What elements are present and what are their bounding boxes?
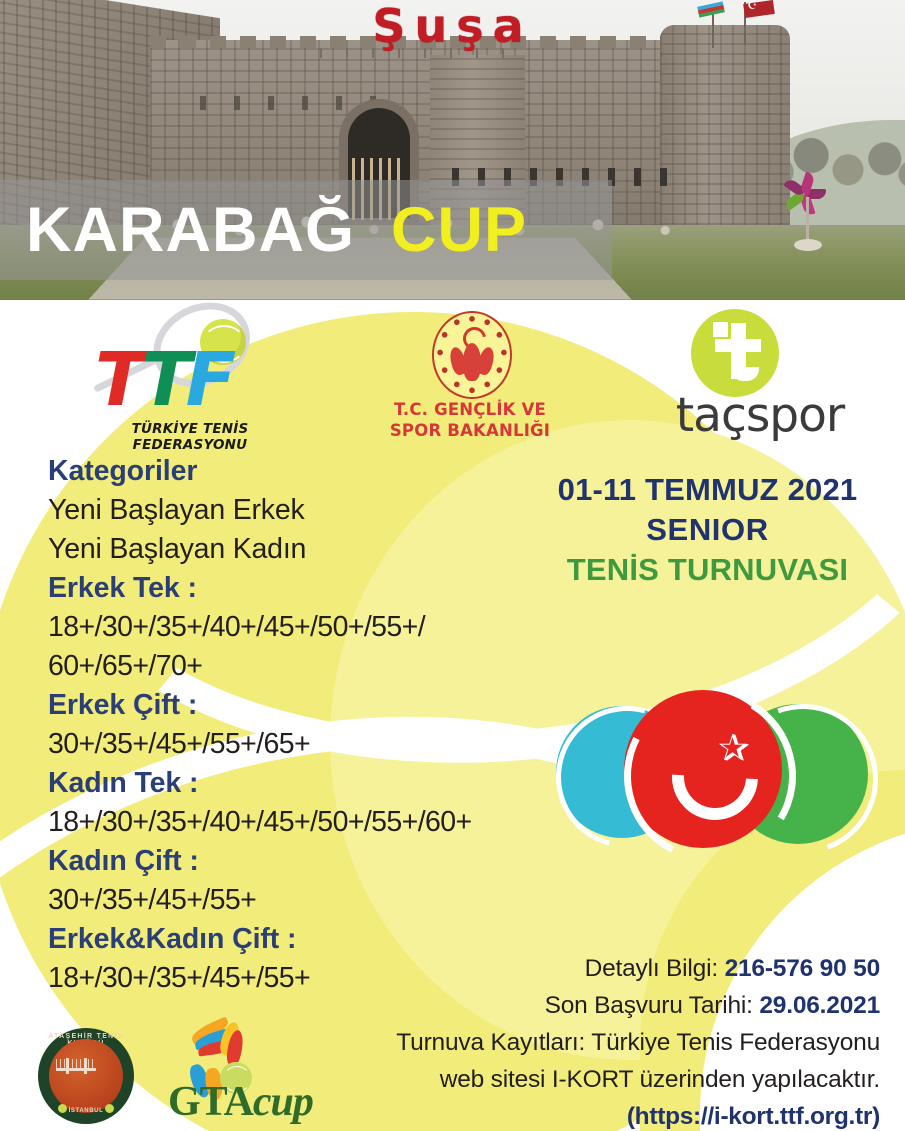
gtacup-wordmark: GTAcup [168, 1080, 313, 1124]
deadline-label: Son Başvuru Tarihi: [545, 992, 753, 1019]
category-values-mens-singles-2: 60+/65+/70+ [48, 647, 548, 686]
ttf-letter-1: T [95, 337, 141, 423]
susa-city-sign: Şuşa [0, 0, 905, 50]
gtacup-logo: GTAcup [168, 1020, 348, 1130]
gtacup-wordmark-lower: cup [253, 1079, 313, 1125]
tournament-poster: Şuşa KARABAĞ CUP TTF TÜRKİYE TENİS FEDER… [0, 0, 905, 1131]
star-icon: ✰ [718, 730, 750, 768]
ttf-monogram: TTF [95, 343, 230, 417]
gtacup-wordmark-upper: GTA [168, 1079, 253, 1125]
category-beginner-men: Yeni Başlayan Erkek [48, 491, 548, 530]
registration-line-2: web sitesi I-KORT üzerinden yapılacaktır… [300, 1061, 880, 1098]
bridge-icon [56, 1058, 96, 1074]
ttf-letter-3: F [186, 337, 231, 423]
ttf-letter-2: T [141, 337, 185, 423]
ministry-line-1: T.C. GENÇLİK VE [370, 399, 570, 420]
category-values-womens-singles: 18+/30+/35+/40+/45+/50+/55+/60+ [48, 803, 548, 842]
event-headline: 01-11 TEMMUZ 2021 SENIOR TENİS TURNUVASI [520, 470, 895, 590]
category-label-womens-doubles: Kadın Çift : [48, 842, 548, 881]
tacspor-logo: taçspor [645, 305, 875, 445]
atasehir-tennis-club-logo: ATAŞEHİR TENİS KULÜBÜ İSTANBUL [38, 1028, 134, 1124]
event-name: TENİS TURNUVASI [520, 550, 895, 590]
tacspor-wordmark: taçspor [645, 391, 875, 441]
category-values-mens-doubles: 30+/35+/45+/55+/65+ [48, 725, 548, 764]
ministry-logo-name: T.C. GENÇLİK VE SPOR BAKANLIĞI [370, 399, 570, 441]
event-dates: 01-11 TEMMUZ 2021 [520, 470, 895, 510]
contact-phone: 216-576 90 50 [725, 955, 880, 982]
registration-line-1: Turnuva Kayıtları: Türkiye Tenis Federas… [300, 1024, 880, 1061]
page-title: KARABAĞ [26, 194, 355, 266]
three-tennis-balls-graphic: ✰ [550, 690, 900, 870]
wall-openings-upper [200, 96, 380, 110]
poster-title-row: KARABAĞ CUP [0, 180, 905, 280]
deadline-date: 29.06.2021 [759, 992, 880, 1019]
categories-block: Kategoriler Yeni Başlayan Erkek Yeni Baş… [48, 452, 548, 998]
category-label-mens-doubles: Erkek Çift : [48, 686, 548, 725]
category-beginner-women: Yeni Başlayan Kadın [48, 530, 548, 569]
page-title-accent: CUP [391, 194, 527, 266]
registration-url[interactable]: (https://i-kort.ttf.org.tr) [300, 1098, 880, 1131]
category-values-mens-singles-1: 18+/30+/35+/40+/45+/50+/55+/ [48, 608, 548, 647]
category-values-womens-doubles: 30+/35+/45+/55+ [48, 881, 548, 920]
ministry-emblem-icon [432, 311, 512, 399]
sponsor-logo-row: TTF TÜRKİYE TENİS FEDERASYONU T.C. GENÇL… [0, 305, 905, 445]
fortress-photo-banner: Şuşa KARABAĞ CUP [0, 0, 905, 300]
ministry-logo: T.C. GENÇLİK VE SPOR BAKANLIĞI [370, 307, 570, 447]
contact-block: Detaylı Bilgi: 216-576 90 50 Son Başvuru… [300, 950, 880, 1131]
category-label-mens-singles: Erkek Tek : [48, 569, 548, 608]
contact-info-label: Detaylı Bilgi: [585, 955, 718, 982]
category-label-womens-singles: Kadın Tek : [48, 764, 548, 803]
contact-info-line: Detaylı Bilgi: 216-576 90 50 [300, 950, 880, 987]
event-division: SENIOR [520, 510, 895, 550]
tacspor-circle-icon [691, 309, 779, 397]
ttf-logo-name: TÜRKİYE TENİS FEDERASYONU [75, 421, 305, 453]
categories-heading: Kategoriler [48, 452, 548, 491]
ministry-line-2: SPOR BAKANLIĞI [370, 420, 570, 441]
club-ring-bottom-text: İSTANBUL [38, 1108, 134, 1114]
deadline-line: Son Başvuru Tarihi: 29.06.2021 [300, 987, 880, 1024]
ttf-logo: TTF TÜRKİYE TENİS FEDERASYONU [75, 315, 305, 445]
